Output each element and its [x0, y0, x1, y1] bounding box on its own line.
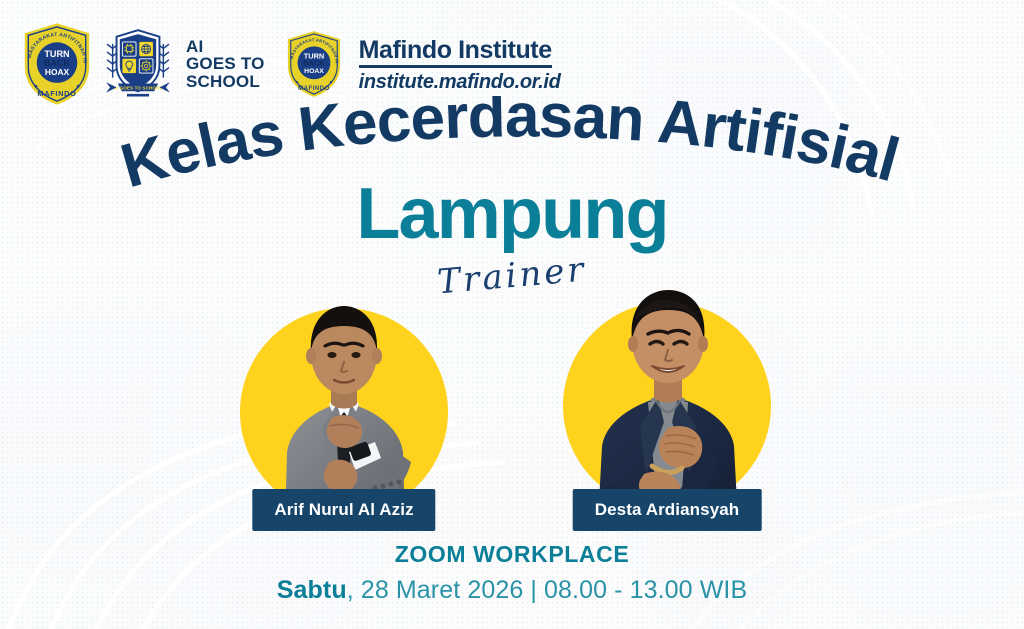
trainer-2-name-chip: Desta Ardiansyah: [573, 489, 762, 531]
svg-text:HOAX: HOAX: [304, 68, 324, 75]
datetime-line: Sabtu, 28 Maret 2026 | 08.00 - 13.00 WIB: [0, 575, 1024, 605]
header-logo-bar: TURN BACK HOAX MASYARAKAT ANTIFITNAH IND…: [22, 22, 561, 106]
turn-back-hoax-shield-small-icon: TURN BACK HOAX MASYARAKAT ANTIFITNAH IND…: [285, 30, 343, 98]
ags-line-3: SCHOOL: [186, 73, 265, 90]
event-details: ZOOM WORKPLACE Sabtu, 28 Maret 2026 | 08…: [0, 540, 1024, 605]
mafindo-institute-wordmark: Mafindo Institute institute.mafindo.or.i…: [359, 36, 561, 93]
date-time-rest: , 28 Maret 2026 | 08.00 - 13.00 WIB: [347, 576, 748, 604]
svg-text:MAFINDO: MAFINDO: [298, 86, 330, 92]
ags-line-2: GOES TO: [186, 55, 265, 72]
svg-text:BACK: BACK: [303, 59, 325, 68]
trainer-1-name-chip: Arif Nurul Al Aziz: [252, 489, 435, 531]
ai-goes-to-school-wordmark: AI GOES TO SCHOOL: [186, 38, 265, 90]
turn-back-hoax-shield-icon: TURN BACK HOAX MASYARAKAT ANTIFITNAH IND…: [22, 22, 92, 106]
institute-name: Mafindo Institute: [359, 36, 552, 68]
svg-text:HOAX: HOAX: [45, 67, 70, 77]
ags-line-1: AI: [186, 38, 265, 55]
venue-label: ZOOM WORKPLACE: [0, 540, 1024, 569]
trainer-2-photo: [548, 278, 786, 522]
ai-goes-to-school-crest-icon: AI GOES TO SCHOOL: [102, 25, 174, 103]
day-label: Sabtu: [277, 576, 347, 604]
event-poster: TURN BACK HOAX MASYARAKAT ANTIFITNAH IND…: [0, 0, 1024, 629]
svg-text:AI GOES TO SCHOOL: AI GOES TO SCHOOL: [113, 85, 162, 90]
institute-url: institute.mafindo.or.id: [359, 71, 561, 93]
